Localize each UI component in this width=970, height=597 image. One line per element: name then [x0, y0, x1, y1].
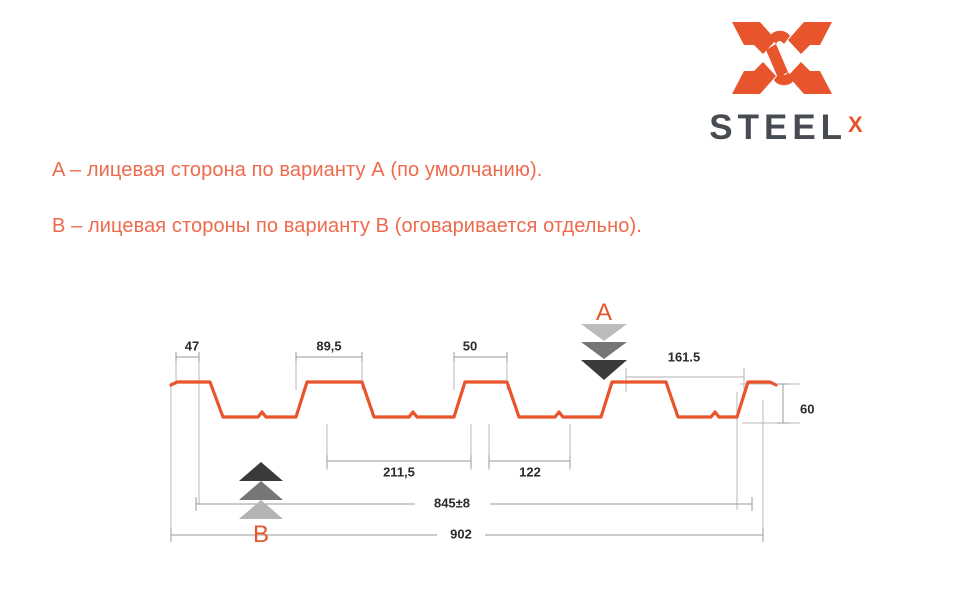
dimension-89-5: 89,5	[296, 338, 362, 362]
dimension-211-5-label: 211,5	[383, 464, 415, 479]
dimension-211-5: 211,5	[327, 455, 471, 479]
dimension-60: 60	[777, 384, 814, 423]
profile-technical-drawing: 47 89,5 50	[0, 0, 970, 597]
dimension-60-label: 60	[800, 401, 814, 416]
corrugated-profile-line	[171, 382, 776, 417]
dimension-47-label: 47	[185, 338, 199, 353]
dimension-50-label: 50	[463, 338, 477, 353]
dimension-89-5-label: 89,5	[316, 338, 341, 353]
diagram-canvas: STEEL X A – лицевая сторона по варианту …	[0, 0, 970, 597]
marker-b-label: B	[253, 521, 269, 548]
dimension-50: 50	[454, 338, 507, 362]
dimension-122: 122	[489, 455, 570, 479]
dimension-845-label: 845±8	[434, 495, 470, 510]
marker-a: A	[581, 299, 627, 380]
chevron-down-icon	[581, 324, 627, 380]
marker-a-label: A	[596, 299, 612, 326]
dimension-902-label: 902	[450, 526, 472, 541]
dimension-161-5-label: 161.5	[668, 349, 701, 364]
dimension-47: 47	[176, 338, 199, 362]
chevron-up-icon	[239, 462, 283, 519]
dimension-161-5: 161.5	[626, 349, 744, 384]
dimension-122-label: 122	[519, 464, 541, 479]
